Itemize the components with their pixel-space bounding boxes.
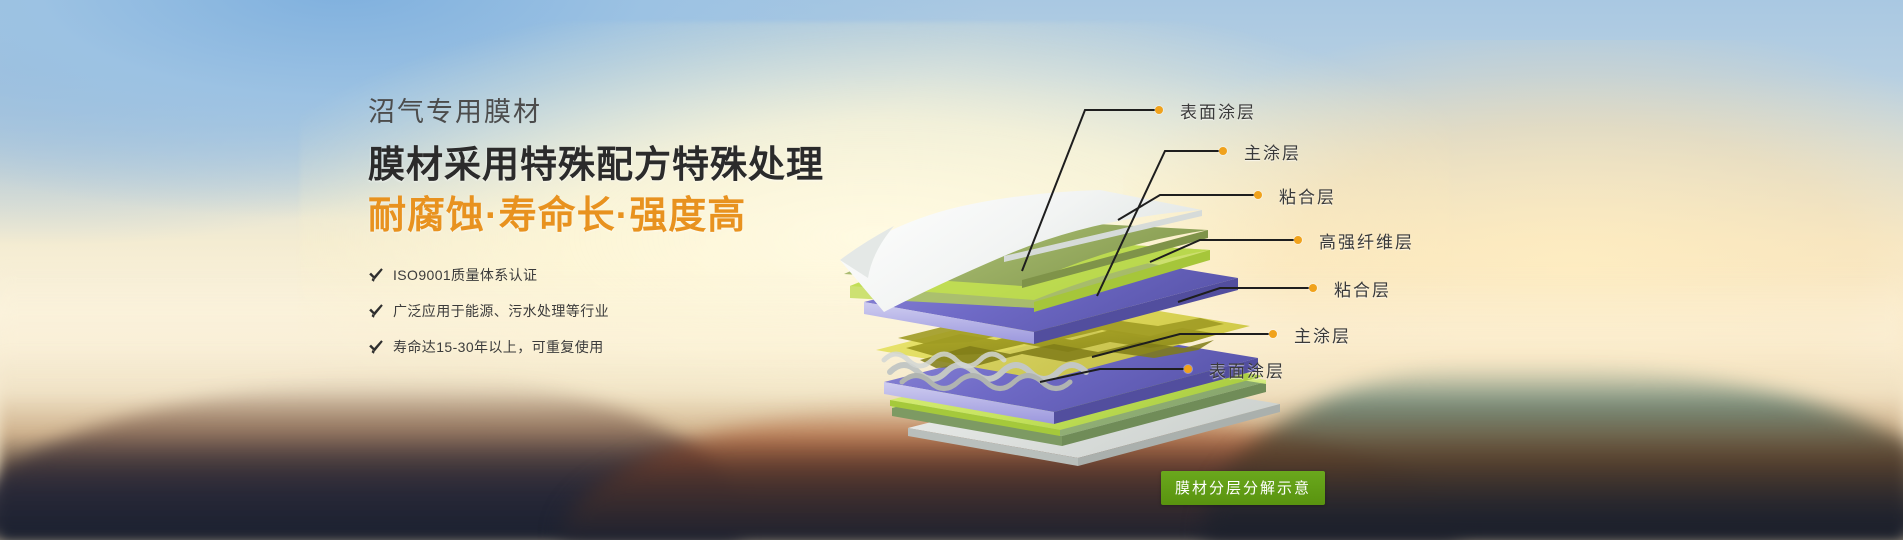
callout-label-fiber: 高强纤维层 [1319,228,1414,253]
check-icon [368,267,384,283]
feature-text: 广泛应用于能源、污水处理等行业 [393,301,609,321]
feature-text: 寿命达15-30年以上，可重复使用 [393,337,604,357]
callout-label-adhesive-top: 粘合层 [1279,183,1336,208]
check-icon [368,339,384,355]
feature-text: ISO9001质量体系认证 [393,265,537,285]
banner-headline: 膜材采用特殊配方特殊处理 [368,142,908,187]
membrane-layer-illustration [810,190,1370,480]
callout-label-main-coating-top: 主涂层 [1244,139,1301,164]
callout-label-surface-coating-bottom: 表面涂层 [1209,357,1285,382]
check-icon [368,303,384,319]
promo-banner: 沼气专用膜材 膜材采用特殊配方特殊处理 耐腐蚀·寿命长·强度高 ISO9001质… [0,0,1903,540]
callout-label-adhesive-bottom: 粘合层 [1334,276,1391,301]
banner-eyebrow: 沼气专用膜材 [368,96,908,130]
status-badge: 膜材分层分解示意 [1161,471,1325,505]
callout-label-surface-coating-top: 表面涂层 [1180,98,1256,123]
callout-label-main-coating-bottom: 主涂层 [1294,322,1351,347]
